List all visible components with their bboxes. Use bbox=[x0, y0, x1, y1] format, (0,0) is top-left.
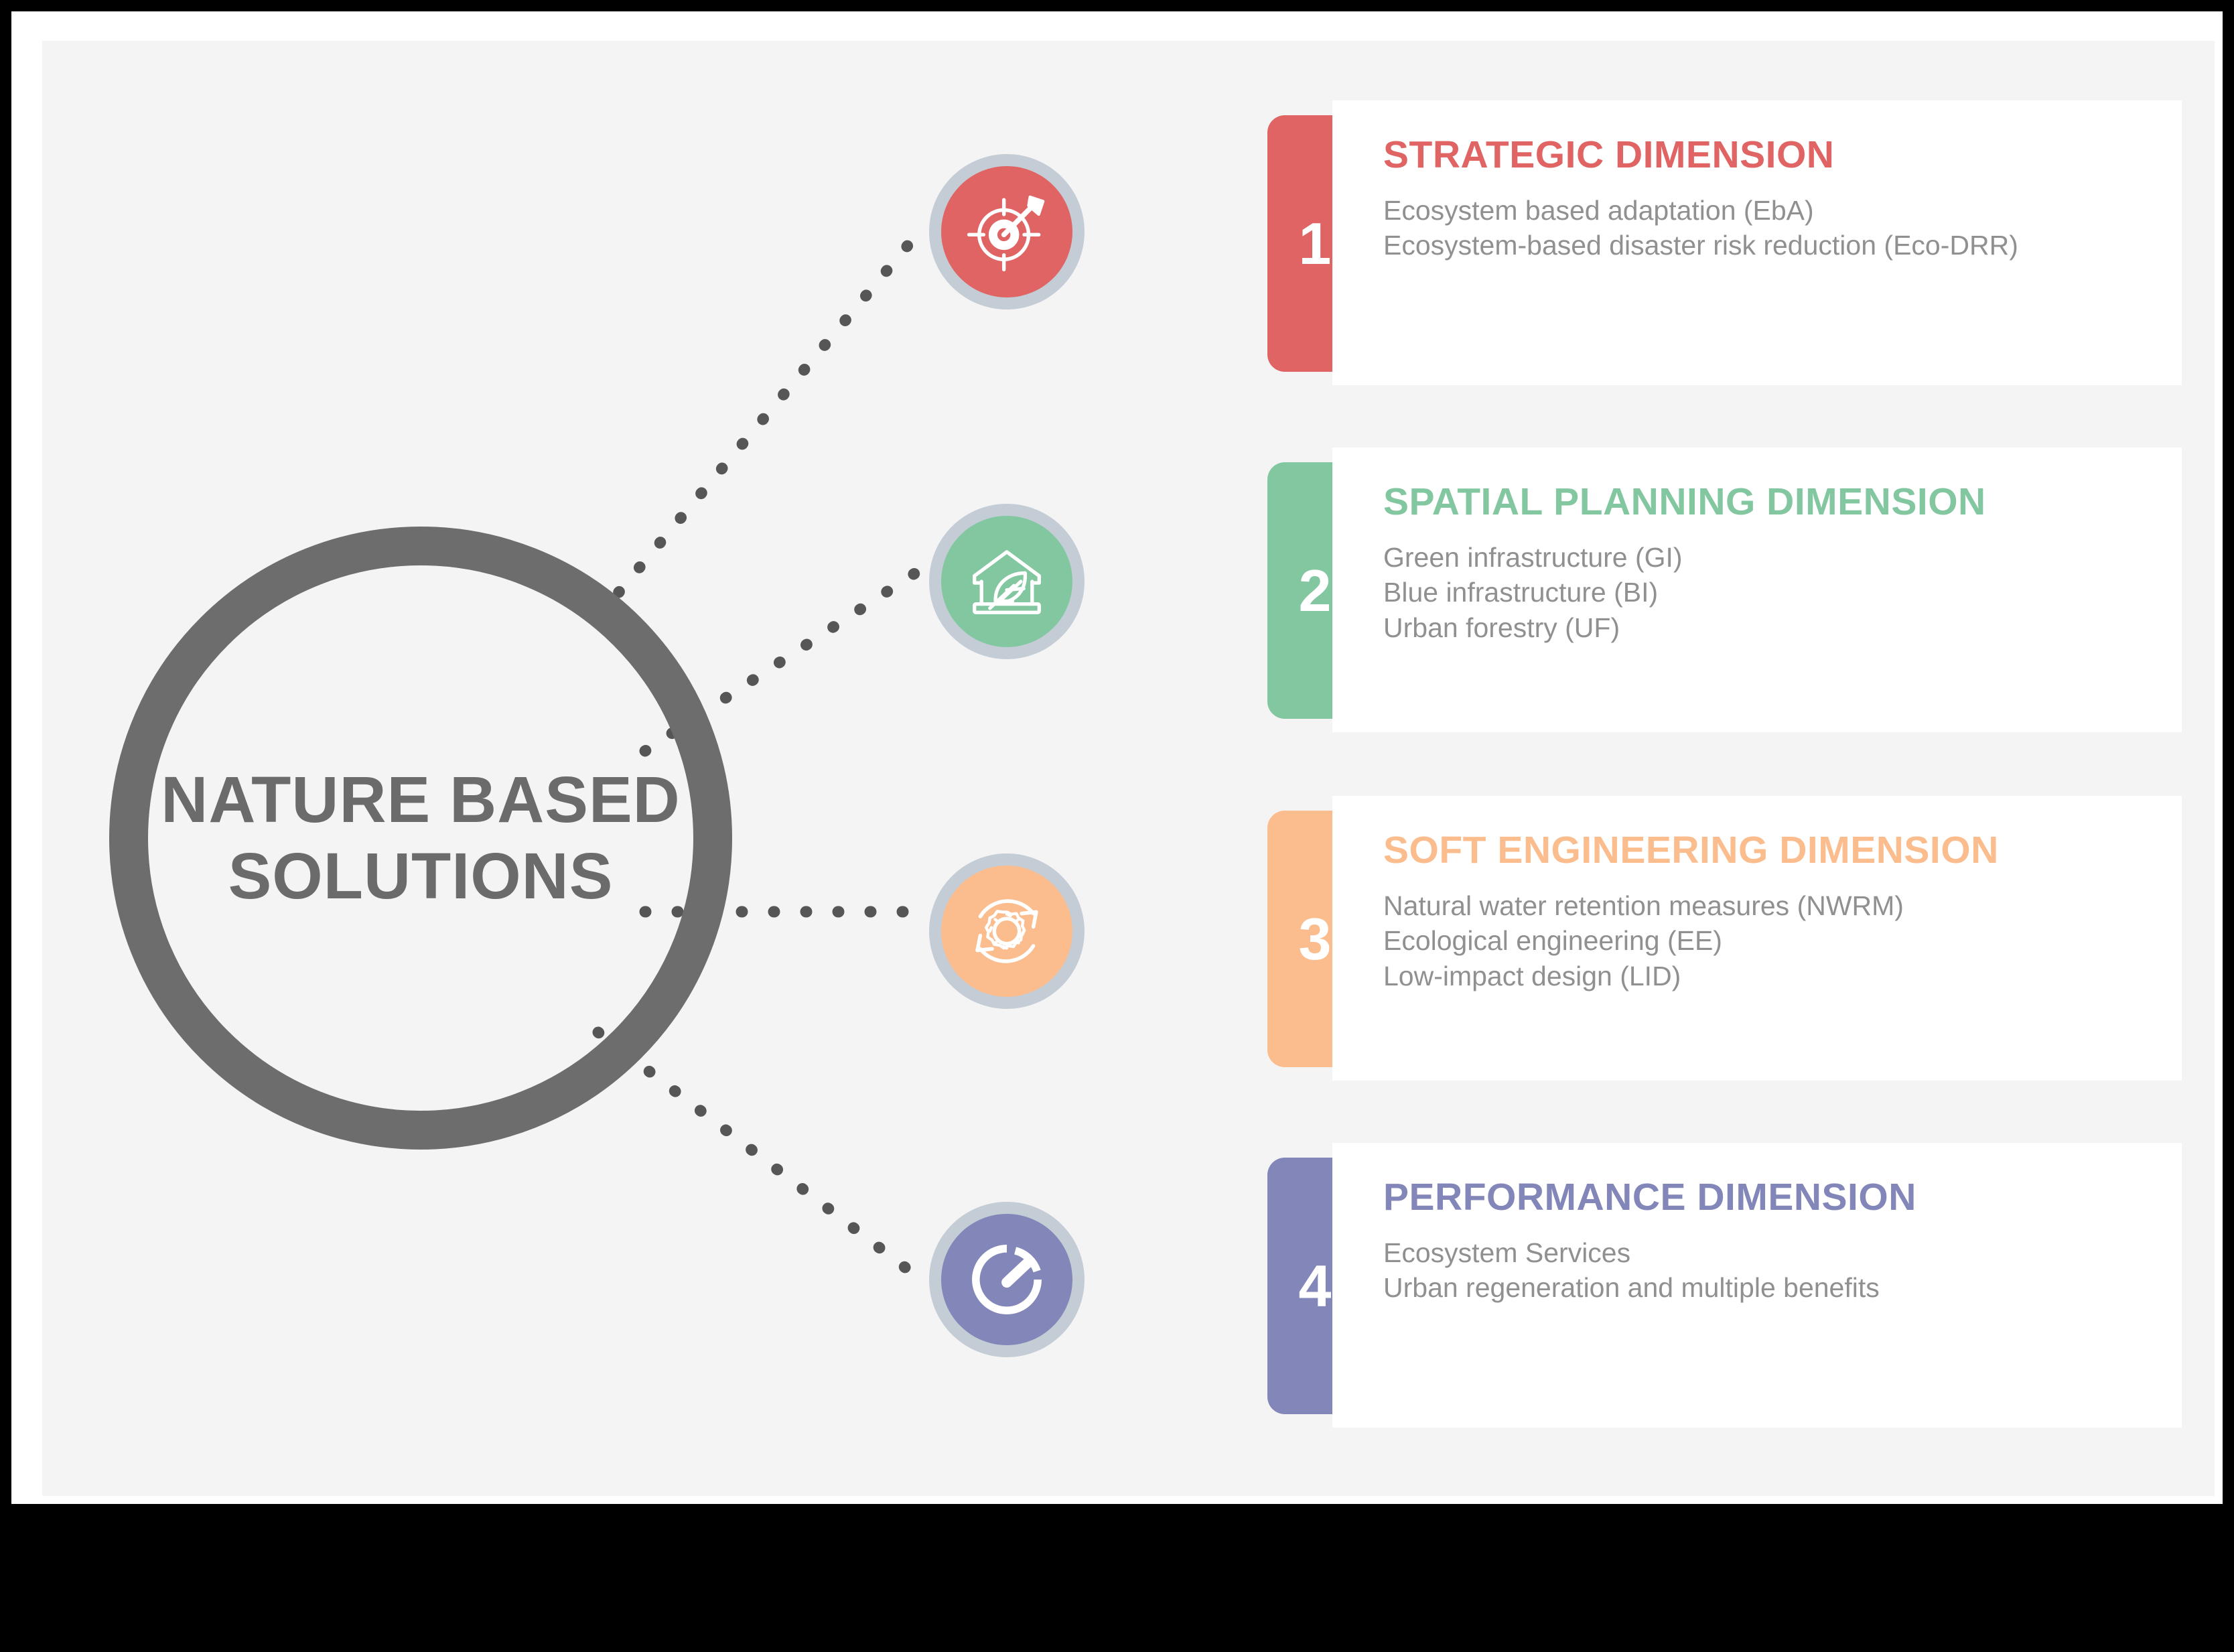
disc-inner-1 bbox=[941, 166, 1072, 297]
dimension-number-2: 2 bbox=[1299, 561, 1332, 620]
connector-line-1 bbox=[598, 235, 916, 617]
dimension-line: Ecological engineering (EE) bbox=[1383, 923, 2152, 958]
disc-inner-2 bbox=[941, 516, 1072, 647]
dimension-row-1: 1 STRATEGIC DIMENSION Ecosystem based ad… bbox=[1267, 100, 2182, 385]
dimension-card-4[interactable]: PERFORMANCE DIMENSION Ecosystem Services… bbox=[1332, 1143, 2182, 1428]
dimension-row-2: 2 SPATIAL PLANNING DIMENSION Green infra… bbox=[1267, 448, 2182, 732]
house-leaf-icon bbox=[965, 539, 1049, 624]
white-mat: NATURE BASED SOLUTIONS bbox=[11, 11, 2223, 1504]
dimension-title-1: STRATEGIC DIMENSION bbox=[1383, 135, 2152, 176]
dimension-line: Low-impact design (LID) bbox=[1383, 959, 2152, 993]
dimension-lines-1: Ecosystem based adaptation (EbA) Ecosyst… bbox=[1383, 193, 2152, 263]
dimension-line: Blue infrastructure (BI) bbox=[1383, 575, 2152, 610]
image-frame: NATURE BASED SOLUTIONS bbox=[0, 0, 2234, 1652]
dimension-line: Ecosystem based adaptation (EbA) bbox=[1383, 193, 2152, 228]
dimension-card-2[interactable]: SPATIAL PLANNING DIMENSION Green infrast… bbox=[1332, 448, 2182, 732]
dimension-row-3: 3 SOFT ENGINEERING DIMENSION Natural wat… bbox=[1267, 796, 2182, 1081]
dimension-disc-3[interactable] bbox=[929, 853, 1085, 1009]
gear-cycle-icon bbox=[963, 887, 1051, 975]
dimension-card-1[interactable]: STRATEGIC DIMENSION Ecosystem based adap… bbox=[1332, 100, 2182, 385]
dimension-line: Ecosystem Services bbox=[1383, 1235, 2152, 1270]
dimension-line: Ecosystem-based disaster risk reduction … bbox=[1383, 228, 2152, 263]
disc-inner-3 bbox=[941, 866, 1072, 997]
dimension-title-2: SPATIAL PLANNING DIMENSION bbox=[1383, 482, 2152, 523]
dimension-line: Natural water retention measures (NWRM) bbox=[1383, 888, 2152, 923]
disc-inner-4 bbox=[941, 1214, 1072, 1345]
dimension-lines-4: Ecosystem Services Urban regeneration an… bbox=[1383, 1235, 2152, 1306]
dimension-number-1: 1 bbox=[1299, 214, 1332, 273]
diagram-canvas: NATURE BASED SOLUTIONS bbox=[42, 41, 2215, 1496]
center-hub: NATURE BASED SOLUTIONS bbox=[109, 527, 732, 1150]
dimension-disc-1[interactable] bbox=[929, 154, 1085, 309]
dimension-row-4: 4 PERFORMANCE DIMENSION Ecosystem Servic… bbox=[1267, 1143, 2182, 1428]
dimension-lines-2: Green infrastructure (GI) Blue infrastru… bbox=[1383, 540, 2152, 645]
dimension-lines-3: Natural water retention measures (NWRM) … bbox=[1383, 888, 2152, 993]
dimension-title-3: SOFT ENGINEERING DIMENSION bbox=[1383, 831, 2152, 871]
dimension-line: Urban forestry (UF) bbox=[1383, 610, 2152, 645]
dimension-line: Urban regeneration and multiple benefits bbox=[1383, 1270, 2152, 1305]
dimension-line: Green infrastructure (GI) bbox=[1383, 540, 2152, 575]
dimension-disc-2[interactable] bbox=[929, 504, 1085, 659]
dimension-disc-4[interactable] bbox=[929, 1202, 1085, 1357]
connector-line-4 bbox=[598, 1032, 913, 1274]
dimension-number-4: 4 bbox=[1299, 1257, 1332, 1316]
dimension-title-4: PERFORMANCE DIMENSION bbox=[1383, 1178, 2152, 1218]
target-arrow-icon bbox=[963, 188, 1050, 275]
dimension-number-3: 3 bbox=[1299, 910, 1332, 969]
center-hub-label: NATURE BASED SOLUTIONS bbox=[161, 762, 680, 915]
dimension-card-3[interactable]: SOFT ENGINEERING DIMENSION Natural water… bbox=[1332, 796, 2182, 1081]
speedometer-icon bbox=[965, 1237, 1049, 1322]
